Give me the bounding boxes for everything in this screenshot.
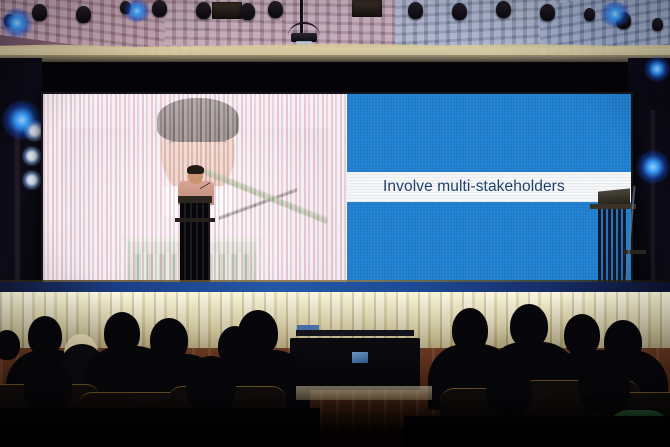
presentation-slide: Involve multi-stakeholders xyxy=(347,94,631,286)
left-truss xyxy=(14,118,21,288)
ceiling-spotlight xyxy=(408,2,423,19)
ceiling-spotlight xyxy=(196,2,211,19)
speaker-hair xyxy=(187,165,204,174)
ceiling-spotlight xyxy=(268,1,283,18)
ceiling-spotlight xyxy=(152,0,167,17)
side-podium-ledge xyxy=(590,204,636,209)
ceiling-monitor xyxy=(212,2,242,19)
slide-title: Involve multi-stakeholders xyxy=(383,172,623,202)
seated-audience-silhouettes xyxy=(0,288,670,447)
podium-ledge xyxy=(175,218,215,222)
side-podium xyxy=(596,202,630,288)
lattice-podium xyxy=(178,196,212,288)
ceiling-spotlight xyxy=(32,4,47,21)
podium-body xyxy=(180,202,210,288)
white-spotlight xyxy=(22,146,42,166)
led-video-wall: Involve multi-stakeholders xyxy=(41,92,633,288)
blue-wash-light xyxy=(644,56,670,82)
ceiling-spotlight xyxy=(584,8,595,21)
ceiling-shadow xyxy=(0,55,670,62)
blue-wash-light xyxy=(122,0,152,22)
ceiling-spotlight xyxy=(496,1,511,18)
white-spotlight xyxy=(22,170,42,190)
ceiling-spotlight xyxy=(540,4,555,21)
ceiling-spotlight xyxy=(452,3,467,20)
blue-wash-light xyxy=(598,2,632,26)
side-podium-body xyxy=(598,209,626,288)
audience-head xyxy=(186,356,236,414)
audience-head xyxy=(486,362,532,416)
ceiling-monitor xyxy=(352,0,382,17)
audience-foreground-mass xyxy=(0,408,320,447)
ceiling-spotlight xyxy=(240,3,255,20)
audience-foreground-mass xyxy=(404,416,670,447)
right-truss xyxy=(650,110,656,288)
ceiling-spotlight xyxy=(652,18,663,31)
ceiling xyxy=(0,0,670,62)
podium-top xyxy=(178,196,212,203)
blue-wash-light xyxy=(0,8,34,38)
audience-head xyxy=(578,354,630,414)
front-table xyxy=(296,386,432,400)
ceiling-spotlight xyxy=(76,6,91,23)
audience-head xyxy=(0,330,20,360)
speaker-microphone xyxy=(200,180,210,192)
conference-hall-scene: Involve multi-stakeholders xyxy=(0,0,670,447)
blue-wash-light xyxy=(636,150,670,184)
